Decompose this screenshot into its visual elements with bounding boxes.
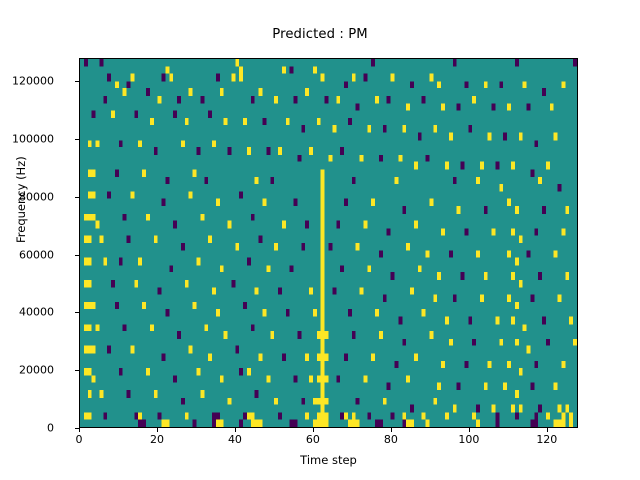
x-tick-label: 120 xyxy=(536,433,557,446)
y-tick-label: 120000 xyxy=(12,75,54,88)
y-tick-label: 20000 xyxy=(19,364,54,377)
x-tick-mark xyxy=(469,428,470,432)
heatmap-grid xyxy=(80,59,577,427)
figure-canvas: Predicted : PM 0204060801001200200004000… xyxy=(0,0,640,480)
y-axis-label: Frequency (Hz) xyxy=(14,156,28,243)
y-tick-label: 0 xyxy=(47,422,54,435)
x-axis-label: Time step xyxy=(79,453,578,467)
x-tick-label: 0 xyxy=(76,433,83,446)
y-tick-mark xyxy=(75,312,79,313)
x-tick-label: 80 xyxy=(384,433,398,446)
x-tick-label: 40 xyxy=(228,433,242,446)
x-tick-label: 20 xyxy=(150,433,164,446)
chart-title: Predicted : PM xyxy=(0,27,640,42)
y-tick-label: 40000 xyxy=(19,306,54,319)
y-tick-mark xyxy=(75,255,79,256)
y-tick-mark xyxy=(75,139,79,140)
x-tick-label: 60 xyxy=(306,433,320,446)
x-tick-mark xyxy=(157,428,158,432)
x-tick-mark xyxy=(313,428,314,432)
y-tick-mark xyxy=(75,81,79,82)
x-tick-label: 100 xyxy=(458,433,479,446)
y-tick-mark xyxy=(75,197,79,198)
x-tick-mark xyxy=(79,428,80,432)
y-tick-mark xyxy=(75,370,79,371)
x-tick-mark xyxy=(235,428,236,432)
heatmap-axes[interactable] xyxy=(79,58,578,428)
x-tick-mark xyxy=(547,428,548,432)
y-tick-mark xyxy=(75,428,79,429)
y-tick-label: 60000 xyxy=(19,248,54,261)
x-tick-mark xyxy=(391,428,392,432)
y-tick-label: 100000 xyxy=(12,132,54,145)
